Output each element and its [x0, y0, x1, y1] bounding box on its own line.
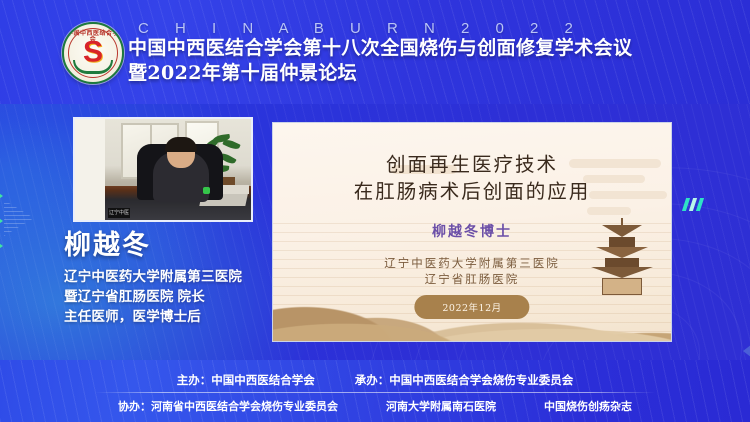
sponsors-footer: 主办：中国中西医结合学会 承办：中国中西医结合学会烧伤专业委员会 协办：河南省中…: [0, 360, 750, 422]
video-green-marker: [203, 187, 210, 194]
slash-icon: [696, 198, 704, 211]
footer-organizer: 主办：中国中西医结合学会: [177, 372, 315, 388]
slide-title-line1: 创面再生医疗技术: [273, 151, 671, 178]
speaker-affiliation-line3: 主任医师，医学博士后: [64, 307, 279, 327]
footer-coorganizer: 协办：河南省中西医结合学会烧伤专业委员会: [118, 398, 338, 414]
chevron-right-icon: [0, 238, 3, 254]
chevron-right-icon: [0, 213, 3, 229]
video-left-wall: [75, 119, 105, 220]
footer-coorganizer: 河南大学附属南石医院: [386, 398, 496, 414]
conference-stream-stage: 中国中西医结合学会 S C H I N A B U R N 2 0 2 2 中国…: [0, 0, 750, 422]
speaker-video-frame: 辽宁中医: [75, 119, 251, 220]
video-papers-stack: [221, 185, 249, 194]
left-chevron-icons: [0, 188, 3, 263]
footer-coorganizer: 中国烧伤创疡杂志: [544, 398, 632, 414]
speaker-name: 柳越冬: [64, 230, 279, 262]
presentation-slide[interactable]: 创面再生医疗技术 在肛肠病术后创面的应用 柳越冬博士 辽宁中医药大学附属第三医院…: [272, 122, 672, 342]
slide-title-line2: 在肛肠病术后创面的应用: [273, 178, 671, 205]
slide-presenter-name: 柳越冬博士: [273, 221, 671, 241]
teal-slash-decoration: [682, 198, 704, 211]
page-title-line1: 中国中西医结合学会第十八次全国烧伤与创面修复学术会议: [128, 37, 632, 59]
conference-logo-icon: 中国中西医结合学会 S: [62, 22, 124, 84]
speaker-affiliation: 辽宁中医药大学附属第三医院 暨辽宁省肛肠医院 院长 主任医师，医学博士后: [64, 267, 279, 327]
speaker-affiliation-line2: 暨辽宁省肛肠医院 院长: [64, 287, 279, 307]
chevron-right-icon: [0, 188, 3, 204]
slide-cloud-decoration: [587, 207, 631, 215]
footer-organizer: 承办：中国中西医结合学会烧伤专业委员会: [355, 372, 574, 388]
video-watermark: 辽宁中医: [108, 208, 130, 218]
speaker-affiliation-line1: 辽宁中医药大学附属第三医院: [64, 267, 279, 287]
speaker-video-panel[interactable]: 辽宁中医: [73, 117, 253, 222]
slide-date-badge: 2022年12月: [414, 295, 529, 319]
slide-org-line1: 辽宁中医药大学附属第三医院: [273, 255, 671, 271]
left-hatch-decoration: [4, 200, 34, 236]
video-person-hair: [165, 137, 197, 152]
speaker-info-block: 柳越冬 辽宁中医药大学附属第三医院 暨辽宁省肛肠医院 院长 主任医师，医学博士后: [64, 230, 279, 327]
slide-organization: 辽宁中医药大学附属第三医院 辽宁省肛肠医院: [273, 255, 671, 287]
footer-divider: [95, 392, 655, 393]
slide-org-line2: 辽宁省肛肠医院: [273, 271, 671, 287]
header-kicker: C H I N A B U R N 2 0 2 2: [138, 20, 584, 37]
footer-row-coorganizers: 协办：河南省中西医结合学会烧伤专业委员会 河南大学附属南石医院 中国烧伤创疡杂志: [0, 398, 750, 414]
page-title-line2: 暨2022年第十届仲景论坛: [128, 61, 728, 86]
footer-row-organizers: 主办：中国中西医结合学会 承办：中国中西医结合学会烧伤专业委员会: [0, 372, 750, 388]
page-title: 中国中西医结合学会第十八次全国烧伤与创面修复学术会议 暨2022年第十届仲景论坛: [128, 36, 728, 86]
slide-title: 创面再生医疗技术 在肛肠病术后创面的应用: [273, 151, 671, 205]
conference-header: 中国中西医结合学会 S C H I N A B U R N 2 0 2 2 中国…: [0, 0, 750, 104]
